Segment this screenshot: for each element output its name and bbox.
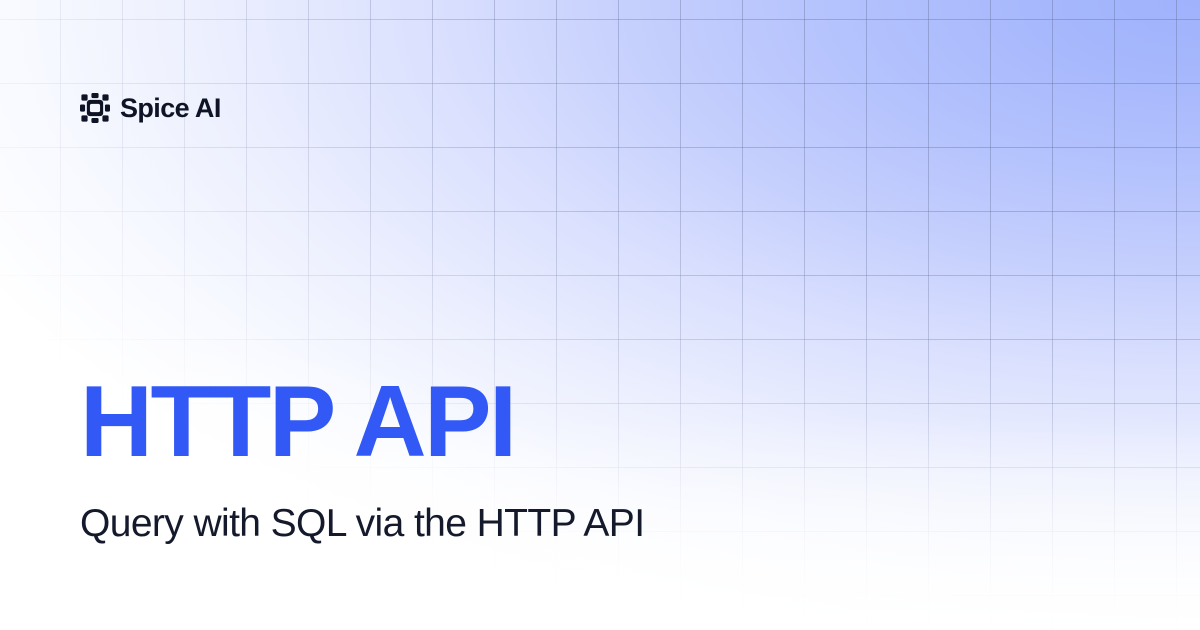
brand-name-label: Spice AI (120, 95, 221, 122)
hero-text-block: HTTP API Query with SQL via the HTTP API (80, 372, 644, 546)
page-title: HTTP API (80, 372, 644, 473)
page-subtitle: Query with SQL via the HTTP API (80, 473, 644, 546)
social-card-banner: Spice AI HTTP API Query with SQL via the… (0, 0, 1200, 630)
spice-cog-icon (80, 93, 110, 123)
brand-lockup: Spice AI (80, 93, 221, 123)
